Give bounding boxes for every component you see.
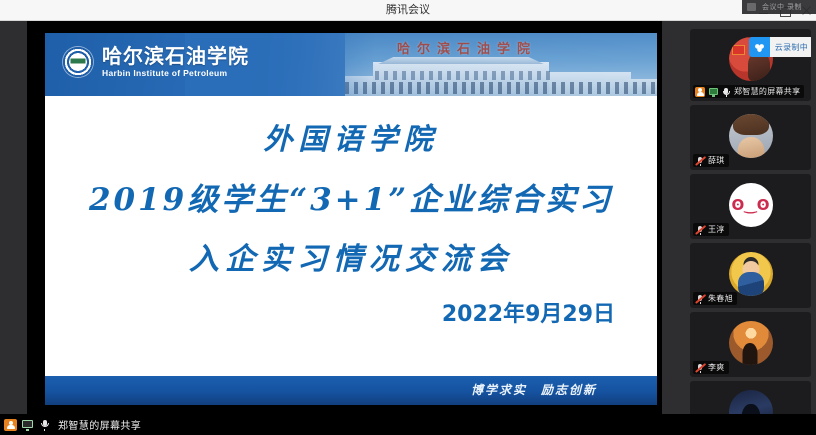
slide-date: 2022年9月29日 — [442, 296, 615, 328]
microphone-muted-icon — [695, 294, 705, 304]
top-right-overlay-fragment: 会议中 录制 — [742, 0, 816, 14]
participant-name: 王淳 — [708, 224, 725, 235]
participant-tile[interactable]: ʘ‿ʘ 王淳 — [690, 174, 811, 239]
photo-windows-lower — [345, 82, 657, 94]
bottom-status-bar: 郑智慧的屏幕共享 — [0, 414, 816, 435]
participant-name: 郑智慧的屏幕共享 — [734, 86, 800, 97]
avatar: ʘ‿ʘ — [729, 183, 773, 227]
photo-windows-upper — [375, 71, 550, 80]
participant-status-bar: 王淳 — [693, 223, 729, 236]
slide-title-line-1: 外国语学院 — [45, 116, 657, 158]
participant-tile[interactable]: 云录制中 郑智慧的屏幕共享 — [690, 29, 811, 101]
participant-tile[interactable]: 朱春旭 — [690, 243, 811, 308]
school-logo-wordmark: 哈尔滨石油学院 Harbin Institute of Petroleum — [63, 46, 249, 78]
avatar — [729, 252, 773, 296]
host-icon — [4, 419, 17, 431]
microphone-muted-icon — [695, 363, 705, 373]
microphone-muted-icon — [695, 156, 705, 166]
status-bar-label: 郑智慧的屏幕共享 — [58, 417, 141, 432]
presentation-slide: 哈尔滨石油学院 哈尔滨石油学院 Harbin Institute of Petr… — [45, 33, 657, 405]
avatar-emoji: ʘ‿ʘ — [729, 183, 773, 227]
campus-building-photo: 哈尔滨石油学院 — [345, 33, 657, 96]
window-titlebar: 腾讯会议 — [0, 0, 816, 21]
avatar-face — [742, 261, 759, 278]
cloud-record-icon — [749, 37, 770, 57]
host-icon — [695, 87, 705, 97]
photo-building-roof — [367, 57, 555, 64]
shared-screen-stage[interactable]: 哈尔滨石油学院 哈尔滨石油学院 Harbin Institute of Petr… — [27, 21, 662, 414]
building-caption: 哈尔滨石油学院 — [397, 38, 537, 57]
participant-name: 李爽 — [708, 362, 725, 373]
microphone-icon — [721, 87, 731, 97]
participant-status-bar: 李爽 — [693, 361, 729, 374]
screen-share-icon[interactable] — [21, 419, 34, 431]
avatar-hair — [733, 114, 769, 135]
screen-share-icon — [708, 87, 718, 97]
window-title: 腾讯会议 — [0, 0, 816, 21]
participant-name: 朱春旭 — [708, 293, 733, 304]
slide-header-band: 哈尔滨石油学院 哈尔滨石油学院 Harbin Institute of Petr… — [45, 33, 657, 96]
overlay-fragment-text: 会议中 录制 — [762, 2, 812, 12]
participant-name: 薛琪 — [708, 155, 725, 166]
participant-status-bar: 薛琪 — [693, 154, 729, 167]
participant-tile[interactable]: 李爽 — [690, 312, 811, 377]
participant-status-bar: 郑智慧的屏幕共享 — [693, 85, 804, 98]
microphone-icon[interactable] — [38, 419, 51, 431]
overlay-thumbnail-icon — [747, 3, 756, 11]
cloud-record-label: 云录制中 — [770, 37, 811, 57]
slide-title-line-3: 入企实习情况交流会 — [45, 234, 657, 278]
tencent-meeting-window: 腾讯会议 会议中 录制 — [0, 0, 816, 435]
school-motto: 博学求实 励志创新 — [471, 381, 597, 398]
cloud-recording-badge[interactable]: 云录制中 — [749, 37, 811, 57]
slide-title-line-2: 2019级学生“3+1”企业综合实习 — [45, 174, 657, 219]
participant-rail[interactable]: 云录制中 郑智慧的屏幕共享 — [662, 21, 816, 435]
participant-status-bar: 朱春旭 — [693, 292, 737, 305]
school-name-cn: 哈尔滨石油学院 — [102, 46, 249, 67]
school-seal-icon — [63, 47, 93, 77]
slide-footer-band: 博学求实 励志创新 — [45, 376, 657, 405]
participant-tile[interactable]: 薛琪 — [690, 105, 811, 170]
microphone-muted-icon — [695, 225, 705, 235]
avatar — [729, 114, 773, 158]
wordmark-block: 哈尔滨石油学院 Harbin Institute of Petroleum — [102, 46, 249, 78]
slide-body: 外国语学院 2019级学生“3+1”企业综合实习 入企实习情况交流会 2022年… — [45, 96, 657, 376]
left-gutter — [0, 21, 27, 435]
avatar — [729, 321, 773, 365]
school-name-en: Harbin Institute of Petroleum — [102, 68, 249, 78]
seal-ring — [65, 49, 91, 75]
flag-decoration — [732, 45, 745, 55]
